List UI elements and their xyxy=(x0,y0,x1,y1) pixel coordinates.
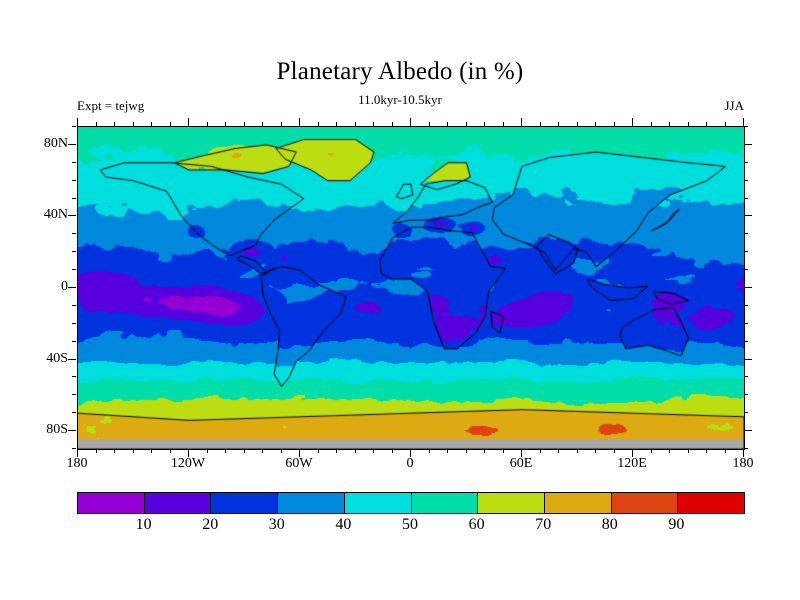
xaxis-tick-label: 120W xyxy=(171,456,205,472)
ytick-right xyxy=(744,126,748,127)
ytick-minor xyxy=(72,269,76,270)
xtick-minor xyxy=(336,449,337,453)
colorbar-legend xyxy=(77,492,743,512)
ytick-right xyxy=(744,144,752,145)
colorbar-band xyxy=(412,493,479,513)
colorbar-band xyxy=(545,493,612,513)
colorbar-band xyxy=(345,493,412,513)
ytick-minor xyxy=(72,126,76,127)
xtick-top xyxy=(392,122,393,126)
ytick-right xyxy=(744,341,748,342)
xtick-minor xyxy=(318,449,319,453)
colorbar-tick-label: 80 xyxy=(602,516,618,534)
ytick-right xyxy=(744,376,748,377)
xtick-top xyxy=(706,122,707,126)
xtick-minor xyxy=(133,449,134,453)
xaxis-tick-label: 120E xyxy=(617,456,647,472)
xaxis-tick-label: 180 xyxy=(733,456,754,472)
xtick-top xyxy=(77,118,78,126)
xtick-top xyxy=(577,122,578,126)
ytick-right xyxy=(744,162,748,163)
xtick-top xyxy=(484,122,485,126)
colorbar-tick-label: 60 xyxy=(469,516,485,534)
ytick-major xyxy=(68,215,76,216)
ytick-right xyxy=(744,448,748,449)
xtick-top xyxy=(355,122,356,126)
xtick-minor xyxy=(614,449,615,453)
colorbar-bands xyxy=(77,492,745,514)
xtick-minor xyxy=(225,449,226,453)
yaxis-tick-label: 80S xyxy=(26,422,68,438)
xtick-minor xyxy=(651,449,652,453)
ytick-minor xyxy=(72,305,76,306)
xtick-minor xyxy=(503,449,504,453)
xtick-minor xyxy=(244,449,245,453)
experiment-label: Expt = tejwg xyxy=(77,98,144,114)
colorbar-band xyxy=(145,493,212,513)
colorbar-band xyxy=(612,493,679,513)
xtick-top xyxy=(336,122,337,126)
xtick-top xyxy=(299,118,300,126)
colorbar-tick-label: 10 xyxy=(136,516,152,534)
xtick-top xyxy=(725,122,726,126)
xtick-minor xyxy=(725,449,726,453)
colorbar-tick-label: 40 xyxy=(335,516,351,534)
xaxis-tick-label: 0 xyxy=(407,456,414,472)
ytick-major xyxy=(68,430,76,431)
xtick-minor xyxy=(688,449,689,453)
xtick-minor xyxy=(170,449,171,453)
ytick-minor xyxy=(72,162,76,163)
ytick-right xyxy=(744,287,752,288)
xtick-minor xyxy=(392,449,393,453)
xtick-top xyxy=(170,122,171,126)
xtick-top xyxy=(558,122,559,126)
yaxis-tick-label: 0 xyxy=(26,279,68,295)
xaxis-tick-label: 60W xyxy=(285,456,312,472)
xtick-top xyxy=(207,122,208,126)
xaxis-tick-label: 60E xyxy=(510,456,533,472)
xtick-top xyxy=(595,122,596,126)
xtick-minor xyxy=(96,449,97,453)
xtick-minor xyxy=(466,449,467,453)
xtick-top xyxy=(262,122,263,126)
xtick-top xyxy=(318,122,319,126)
xtick-top xyxy=(151,122,152,126)
colorbar-tick-label: 30 xyxy=(269,516,285,534)
xtick-top xyxy=(225,122,226,126)
ytick-minor xyxy=(72,198,76,199)
xtick-top xyxy=(669,122,670,126)
xaxis-tick-label: 180 xyxy=(67,456,88,472)
xtick-minor xyxy=(669,449,670,453)
ytick-minor xyxy=(72,448,76,449)
xtick-minor xyxy=(706,449,707,453)
ytick-right xyxy=(744,305,748,306)
ytick-right xyxy=(744,323,748,324)
xtick-top xyxy=(96,122,97,126)
ytick-right xyxy=(744,198,748,199)
xtick-top xyxy=(521,118,522,126)
xtick-minor xyxy=(373,449,374,453)
colorbar-band xyxy=(78,493,145,513)
xtick-top xyxy=(244,122,245,126)
colorbar-band xyxy=(478,493,545,513)
xtick-minor xyxy=(577,449,578,453)
colorbar-tick-label: 50 xyxy=(402,516,418,534)
colorbar-tick-label: 20 xyxy=(202,516,218,534)
xtick-top xyxy=(447,122,448,126)
colorbar-band xyxy=(211,493,278,513)
ytick-right xyxy=(744,251,748,252)
colorbar-band xyxy=(678,493,744,513)
xtick-minor xyxy=(484,449,485,453)
ytick-minor xyxy=(72,412,76,413)
yaxis-tick-label: 80N xyxy=(26,136,68,152)
ytick-major xyxy=(68,287,76,288)
xtick-top xyxy=(281,122,282,126)
ytick-minor xyxy=(72,323,76,324)
map-plot-area xyxy=(77,126,745,450)
xtick-minor xyxy=(281,449,282,453)
ytick-minor xyxy=(72,341,76,342)
xtick-minor xyxy=(207,449,208,453)
ytick-right xyxy=(744,430,752,431)
colorbar-tick-label: 70 xyxy=(535,516,551,534)
xtick-minor xyxy=(540,449,541,453)
season-label: JJA xyxy=(724,98,744,114)
xtick-top xyxy=(632,118,633,126)
xtick-top xyxy=(743,118,744,126)
xtick-minor xyxy=(429,449,430,453)
ytick-right xyxy=(744,233,748,234)
xtick-top xyxy=(410,118,411,126)
xtick-minor xyxy=(355,449,356,453)
xtick-top xyxy=(540,122,541,126)
ytick-minor xyxy=(72,394,76,395)
ytick-minor xyxy=(72,233,76,234)
colorbar-band xyxy=(278,493,345,513)
albedo-heatmap-canvas xyxy=(78,127,744,449)
xtick-top xyxy=(614,122,615,126)
yaxis-tick-label: 40S xyxy=(26,351,68,367)
ytick-major xyxy=(68,144,76,145)
colorbar-tick-label: 90 xyxy=(668,516,684,534)
xtick-top xyxy=(429,122,430,126)
page-title: Planetary Albedo (in %) xyxy=(0,58,800,86)
xtick-minor xyxy=(595,449,596,453)
xtick-top xyxy=(373,122,374,126)
yaxis-tick-label: 40N xyxy=(26,207,68,223)
ytick-right xyxy=(744,359,752,360)
ytick-right xyxy=(744,180,748,181)
xtick-minor xyxy=(447,449,448,453)
ytick-minor xyxy=(72,180,76,181)
xtick-top xyxy=(188,118,189,126)
xtick-minor xyxy=(558,449,559,453)
ytick-right xyxy=(744,394,748,395)
xtick-top xyxy=(503,122,504,126)
xtick-top xyxy=(688,122,689,126)
ytick-right xyxy=(744,269,748,270)
xtick-top xyxy=(133,122,134,126)
xtick-minor xyxy=(114,449,115,453)
ytick-major xyxy=(68,359,76,360)
xtick-top xyxy=(466,122,467,126)
xtick-top xyxy=(651,122,652,126)
ytick-minor xyxy=(72,251,76,252)
ytick-right xyxy=(744,215,752,216)
xtick-top xyxy=(114,122,115,126)
xtick-minor xyxy=(262,449,263,453)
ytick-minor xyxy=(72,376,76,377)
xtick-minor xyxy=(151,449,152,453)
ytick-right xyxy=(744,412,748,413)
